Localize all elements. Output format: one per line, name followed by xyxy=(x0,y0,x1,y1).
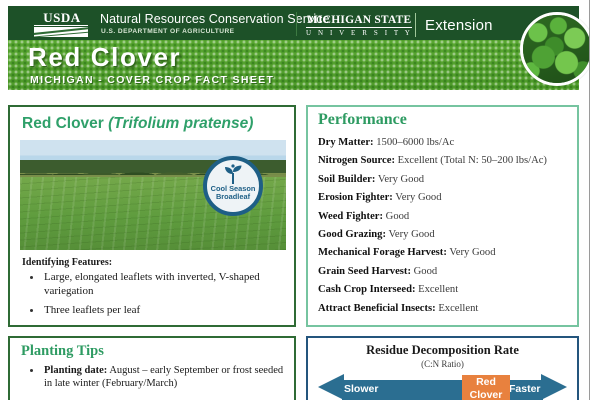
performance-list: Dry Matter: 1500–6000 lbs/Ac Nitrogen So… xyxy=(318,134,576,318)
performance-value: Excellent (Total N: 50–200 lbs/Ac) xyxy=(395,155,547,166)
list-item: Grain Seed Harvest: Good xyxy=(318,263,576,281)
usda-logo-field-glyph xyxy=(34,27,88,37)
identifying-features-list: Large, elongated leaflets with inverted,… xyxy=(24,271,286,324)
performance-value: Very Good xyxy=(386,229,435,240)
performance-value: Excellent xyxy=(436,303,479,314)
identifying-features-label: Identifying Features: xyxy=(22,257,112,268)
msu-name-line1: MICHIGAN STATE xyxy=(306,14,412,26)
species-latin-name: (Trifolium pratense) xyxy=(108,115,253,132)
clover-leaves-image xyxy=(523,15,591,83)
list-item: Dry Matter: 1500–6000 lbs/Ac xyxy=(318,134,576,152)
page-outer-margin xyxy=(590,0,600,400)
scale-label-faster: Faster xyxy=(509,383,541,395)
residue-subheading: (C:N Ratio) xyxy=(308,359,577,369)
performance-value: Very Good xyxy=(375,174,424,185)
performance-label: Grain Seed Harvest: xyxy=(318,266,411,277)
msu-extension-separator xyxy=(415,13,416,37)
performance-value: Very Good xyxy=(393,192,442,203)
list-item: Mechanical Forage Harvest: Very Good xyxy=(318,244,576,262)
performance-value: 1500–6000 lbs/Ac xyxy=(374,137,455,148)
list-item: Weed Fighter: Good xyxy=(318,208,576,226)
performance-value: Good xyxy=(383,211,409,222)
planting-tip-label: Planting date: xyxy=(44,365,107,376)
arrow-right-icon xyxy=(541,374,567,400)
msu-logo: MICHIGAN STATE U N I V E R S I T Y xyxy=(306,14,412,37)
performance-label: Erosion Fighter: xyxy=(318,192,393,203)
marker-label-line2: Clover xyxy=(462,388,510,400)
usda-wordmark: USDA xyxy=(34,11,90,24)
performance-heading: Performance xyxy=(318,111,407,129)
performance-label: Nitrogen Source: xyxy=(318,155,395,166)
residue-decomposition-card: Residue Decomposition Rate (C:N Ratio) S… xyxy=(306,336,579,400)
species-heading: Red Clover (Trifolium pratense) xyxy=(22,115,253,133)
list-item: Three leaflets per leaf xyxy=(24,304,286,318)
arrow-left-icon xyxy=(318,374,344,400)
clover-photo-circle xyxy=(520,12,594,86)
header-divider xyxy=(296,12,297,36)
performance-value: Excellent xyxy=(416,284,459,295)
list-item: Erosion Fighter: Very Good xyxy=(318,189,576,207)
species-card: Red Clover (Trifolium pratense) Cool Sea… xyxy=(8,105,296,327)
list-item: Large, elongated leaflets with inverted,… xyxy=(24,271,286,298)
planting-tips-card: Planting Tips Planting date: August – ea… xyxy=(8,336,296,400)
msu-rule xyxy=(306,27,412,28)
fact-sheet-page: USDA Natural Resources Conservation Serv… xyxy=(0,0,600,400)
page-subtitle: MICHIGAN - COVER CROP FACT SHEET xyxy=(30,74,274,86)
performance-card: Performance Dry Matter: 1500–6000 lbs/Ac… xyxy=(306,105,579,327)
residue-heading: Residue Decomposition Rate xyxy=(308,343,577,358)
list-item: Planting date: August – early September … xyxy=(24,364,289,390)
agency-department: U.S. DEPARTMENT OF AGRICULTURE xyxy=(101,28,235,35)
performance-label: Dry Matter: xyxy=(318,137,374,148)
performance-label: Cash Crop Interseed: xyxy=(318,284,416,295)
crop-type-badge: Cool Season Broadleaf xyxy=(203,156,263,216)
list-item: Nitrogen Source: Excellent (Total N: 50–… xyxy=(318,152,576,170)
page-title: Red Clover xyxy=(28,42,181,73)
performance-label: Soil Builder: xyxy=(318,174,375,185)
usda-logo-underline xyxy=(34,25,88,26)
performance-value: Very Good xyxy=(447,247,496,258)
list-item: Cash Crop Interseed: Excellent xyxy=(318,281,576,299)
species-common-name: Red Clover xyxy=(22,115,108,132)
decomposition-scale: Slower Faster Red Clover xyxy=(314,374,571,400)
list-item: Soil Builder: Very Good xyxy=(318,171,576,189)
planting-tips-heading: Planting Tips xyxy=(21,343,104,360)
msu-name-line2: U N I V E R S I T Y xyxy=(306,29,412,37)
scale-marker-red-clover: Red Clover xyxy=(462,375,510,400)
badge-label-line2: Broadleaf xyxy=(207,193,259,201)
performance-label: Weed Fighter: xyxy=(318,211,383,222)
marker-label-line1: Red xyxy=(462,375,510,388)
scale-label-slower: Slower xyxy=(344,383,378,395)
list-item: Attract Beneficial Insects: Excellent xyxy=(318,300,576,318)
seedling-icon xyxy=(207,163,259,185)
planting-tips-list: Planting date: August – early September … xyxy=(24,364,289,390)
extension-label: Extension xyxy=(425,17,493,34)
agency-header-bar: USDA Natural Resources Conservation Serv… xyxy=(8,6,579,40)
performance-label: Attract Beneficial Insects: xyxy=(318,303,436,314)
performance-value: Good xyxy=(411,266,437,277)
usda-logo: USDA xyxy=(34,11,90,37)
performance-label: Mechanical Forage Harvest: xyxy=(318,247,447,258)
list-item: Good Grazing: Very Good xyxy=(318,226,576,244)
performance-label: Good Grazing: xyxy=(318,229,386,240)
